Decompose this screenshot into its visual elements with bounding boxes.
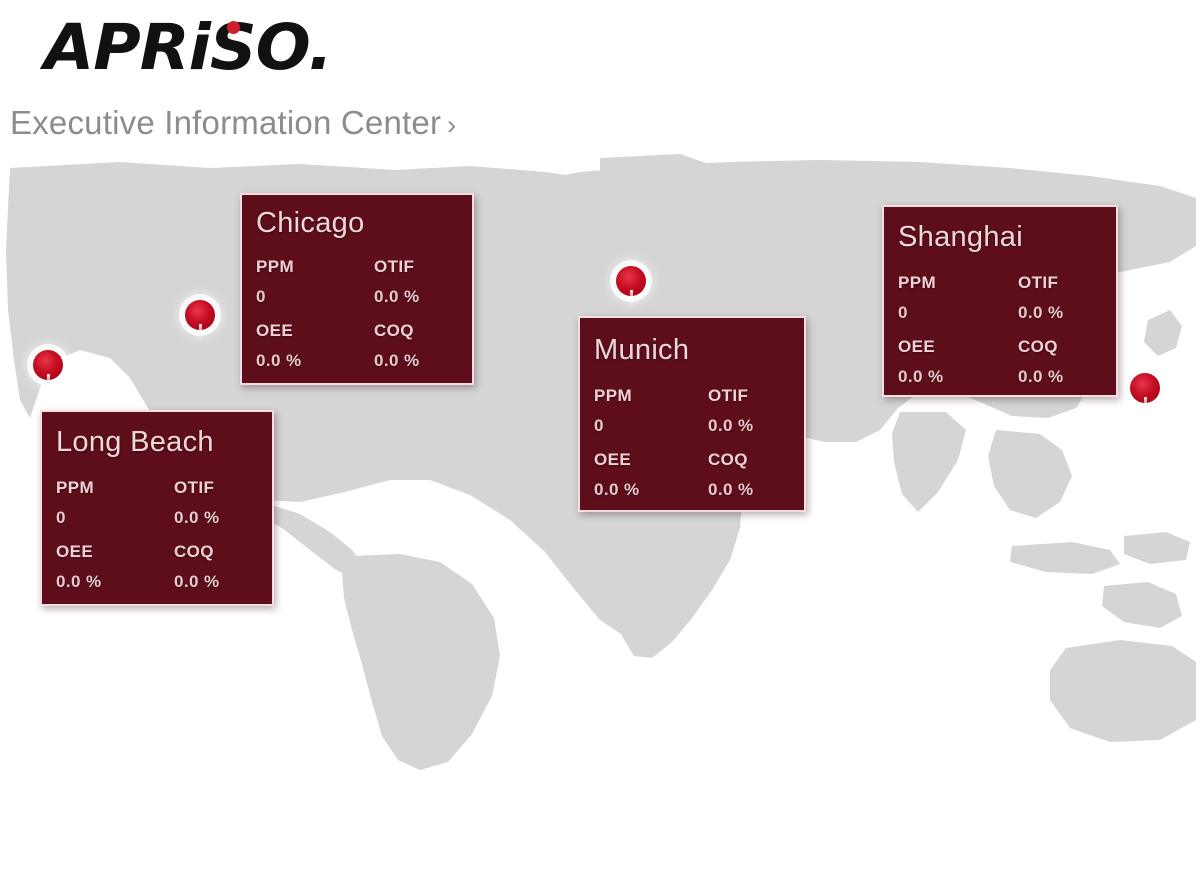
metric-value-coq: 0.0 % <box>708 480 794 500</box>
metrics-column-left: PPM 0 OEE 0.0 % <box>898 273 1018 387</box>
metric-value-coq: 0.0 % <box>374 351 462 371</box>
metrics-column-left: PPM 0 OEE 0.0 % <box>256 257 374 371</box>
metric-label-ppm: PPM <box>256 257 374 277</box>
metric-value-coq: 0.0 % <box>174 572 262 592</box>
site-panel-title: Chicago <box>256 207 365 240</box>
metrics-column-left: PPM 0 OEE 0.0 % <box>594 386 708 500</box>
india-shape <box>892 412 966 512</box>
site-panel-chicago[interactable]: Chicago PPM 0 OEE 0.0 % OTIF 0.0 % COQ 0… <box>240 193 474 385</box>
metric-label-coq: COQ <box>708 450 794 470</box>
japan-shape <box>1144 310 1182 356</box>
marker-tail-icon <box>630 290 633 308</box>
metric-value-otif: 0.0 % <box>374 287 462 307</box>
page-header: APRiSO. Executive Information Center› <box>0 0 1200 165</box>
metrics-column-right: OTIF 0.0 % COQ 0.0 % <box>174 478 262 592</box>
metrics-column-right: OTIF 0.0 % COQ 0.0 % <box>708 386 794 500</box>
metric-label-oee: OEE <box>898 337 1018 357</box>
metric-value-otif: 0.0 % <box>708 416 794 436</box>
metric-value-otif: 0.0 % <box>174 508 262 528</box>
metric-label-ppm: PPM <box>594 386 708 406</box>
indonesia-shape <box>1010 542 1120 574</box>
chevron-right-icon: › <box>447 110 456 140</box>
site-panel-title: Long Beach <box>56 426 214 459</box>
metric-value-oee: 0.0 % <box>594 480 708 500</box>
site-panel-shanghai[interactable]: Shanghai PPM 0 OEE 0.0 % OTIF 0.0 % COQ … <box>882 205 1118 397</box>
metric-value-oee: 0.0 % <box>898 367 1018 387</box>
metric-label-coq: COQ <box>1018 337 1106 357</box>
metric-label-oee: OEE <box>594 450 708 470</box>
map-marker-chicago[interactable] <box>185 300 215 330</box>
apriso-logotype: APRiSO. <box>44 12 332 84</box>
island-cluster-shape <box>1102 582 1182 628</box>
metric-value-ppm: 0 <box>256 287 374 307</box>
site-panel-long-beach[interactable]: Long Beach PPM 0 OEE 0.0 % OTIF 0.0 % CO… <box>40 410 274 606</box>
site-panel-munich[interactable]: Munich PPM 0 OEE 0.0 % OTIF 0.0 % COQ 0.… <box>578 316 806 512</box>
page-title-label: Executive Information Center <box>10 104 441 141</box>
metric-label-otif: OTIF <box>174 478 262 498</box>
metrics-column-right: OTIF 0.0 % COQ 0.0 % <box>374 257 462 371</box>
marker-tail-icon <box>47 374 50 392</box>
site-panel-title: Munich <box>594 334 689 367</box>
australia-shape <box>1050 640 1196 742</box>
new-guinea-shape <box>1124 532 1190 564</box>
metric-value-oee: 0.0 % <box>56 572 174 592</box>
metric-label-ppm: PPM <box>898 273 1018 293</box>
metric-label-ppm: PPM <box>56 478 174 498</box>
metric-value-oee: 0.0 % <box>256 351 374 371</box>
metric-value-ppm: 0 <box>594 416 708 436</box>
metric-label-otif: OTIF <box>708 386 794 406</box>
metric-value-coq: 0.0 % <box>1018 367 1106 387</box>
south-america-shape <box>342 554 500 770</box>
map-marker-shanghai[interactable] <box>1130 373 1160 403</box>
metric-value-ppm: 0 <box>898 303 1018 323</box>
apriso-logo[interactable]: APRiSO. <box>44 12 324 84</box>
metric-label-oee: OEE <box>256 321 374 341</box>
map-marker-long-beach[interactable] <box>33 350 63 380</box>
logo-accent-dot-icon <box>227 21 240 34</box>
map-marker-munich[interactable] <box>616 266 646 296</box>
metrics-column-right: OTIF 0.0 % COQ 0.0 % <box>1018 273 1106 387</box>
page-title[interactable]: Executive Information Center› <box>10 104 456 142</box>
metric-label-oee: OEE <box>56 542 174 562</box>
metric-label-coq: COQ <box>174 542 262 562</box>
metric-value-ppm: 0 <box>56 508 174 528</box>
marker-tail-icon <box>1144 397 1147 415</box>
metric-value-otif: 0.0 % <box>1018 303 1106 323</box>
metric-label-otif: OTIF <box>374 257 462 277</box>
metric-label-coq: COQ <box>374 321 462 341</box>
marker-tail-icon <box>199 324 202 342</box>
metric-label-otif: OTIF <box>1018 273 1106 293</box>
site-panel-title: Shanghai <box>898 221 1023 254</box>
metrics-column-left: PPM 0 OEE 0.0 % <box>56 478 174 592</box>
southeast-asia-shape <box>988 430 1072 518</box>
executive-information-center-dashboard: APRiSO. Executive Information Center› <box>0 0 1200 870</box>
